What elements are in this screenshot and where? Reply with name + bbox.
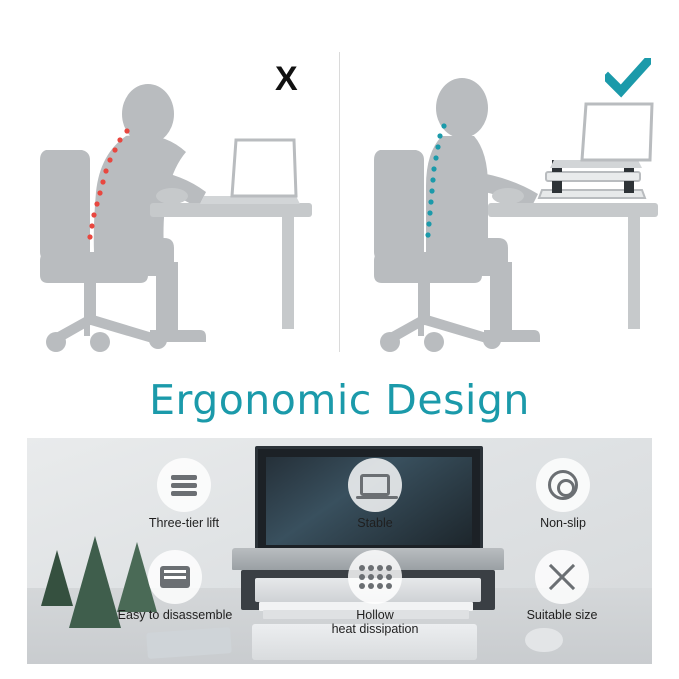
- cross-mark-icon: X: [275, 62, 298, 96]
- bad-posture-panel: X: [0, 0, 339, 368]
- feature-suitable-size: Suitable size: [500, 550, 624, 622]
- page-title: Ergonomic Design: [0, 376, 679, 424]
- good-posture-illustration: [340, 0, 679, 368]
- feature-three-tier-lift: Three-tier lift: [125, 458, 243, 530]
- feature-label: Stable: [320, 516, 430, 530]
- product-photo-panel: Three-tier lift Stable Non-slip Easy to …: [27, 438, 652, 664]
- feature-label: Hollow heat dissipation: [305, 608, 445, 637]
- badge: [536, 458, 590, 512]
- bad-posture-illustration: [0, 0, 339, 368]
- badge: [157, 458, 211, 512]
- non-slip-circle-icon: [548, 470, 578, 500]
- hollow-dots-icon: [359, 565, 392, 589]
- resize-arrows-icon: [547, 562, 577, 592]
- feature-label: Suitable size: [500, 608, 624, 622]
- disassemble-icon: [160, 566, 190, 588]
- comparison-section: X: [0, 0, 679, 368]
- feature-hollow-heat-dissipation: Hollow heat dissipation: [305, 550, 445, 637]
- feature-label: Three-tier lift: [125, 516, 243, 530]
- three-lines-icon: [171, 472, 197, 499]
- feature-stable: Stable: [320, 458, 430, 530]
- badge: [535, 550, 589, 604]
- good-posture-panel: [340, 0, 679, 368]
- check-mark-icon: [605, 58, 651, 98]
- badge: [348, 550, 402, 604]
- feature-label: Non-slip: [504, 516, 622, 530]
- product-infographic: X: [0, 0, 679, 679]
- stable-stand-icon: [360, 474, 390, 496]
- mouse: [525, 628, 563, 652]
- badge: [348, 458, 402, 512]
- feature-easy-to-disassemble: Easy to disassemble: [103, 550, 247, 622]
- feature-non-slip: Non-slip: [504, 458, 622, 530]
- feature-label: Easy to disassemble: [103, 608, 247, 622]
- badge: [148, 550, 202, 604]
